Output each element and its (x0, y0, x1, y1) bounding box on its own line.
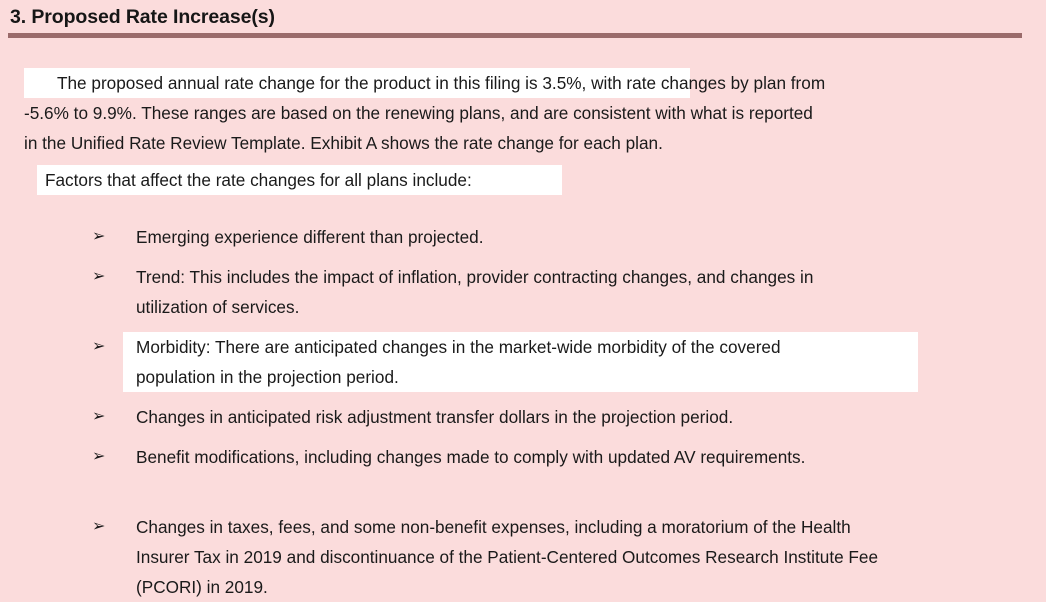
arrow-bullet-icon: ➢ (92, 332, 118, 362)
list-item-text: Morbidity: There are anticipated changes… (136, 332, 781, 392)
intro-line-3: in the Unified Rate Review Template. Exh… (24, 128, 663, 158)
arrow-bullet-icon: ➢ (92, 402, 118, 432)
arrow-bullet-icon: ➢ (92, 512, 118, 542)
list-item-text: Changes in taxes, fees, and some non-ben… (136, 512, 878, 602)
document-page: 3. Proposed Rate Increase(s) The propose… (0, 0, 1046, 600)
factors-lead-in: Factors that affect the rate changes for… (45, 165, 472, 195)
list-item-text: Emerging experience different than proje… (136, 222, 483, 252)
list-item-text: Trend: This includes the impact of infla… (136, 262, 813, 322)
arrow-bullet-icon: ➢ (92, 262, 118, 292)
arrow-bullet-icon: ➢ (92, 442, 118, 472)
list-item-text: Changes in anticipated risk adjustment t… (136, 402, 733, 432)
arrow-bullet-icon: ➢ (92, 222, 118, 252)
intro-line-1: The proposed annual rate change for the … (57, 68, 825, 98)
list-item-text: Benefit modifications, including changes… (136, 442, 805, 472)
page-title: 3. Proposed Rate Increase(s) (10, 6, 275, 29)
intro-line-2: -5.6% to 9.9%. These ranges are based on… (24, 98, 813, 128)
heading-divider (8, 33, 1022, 38)
